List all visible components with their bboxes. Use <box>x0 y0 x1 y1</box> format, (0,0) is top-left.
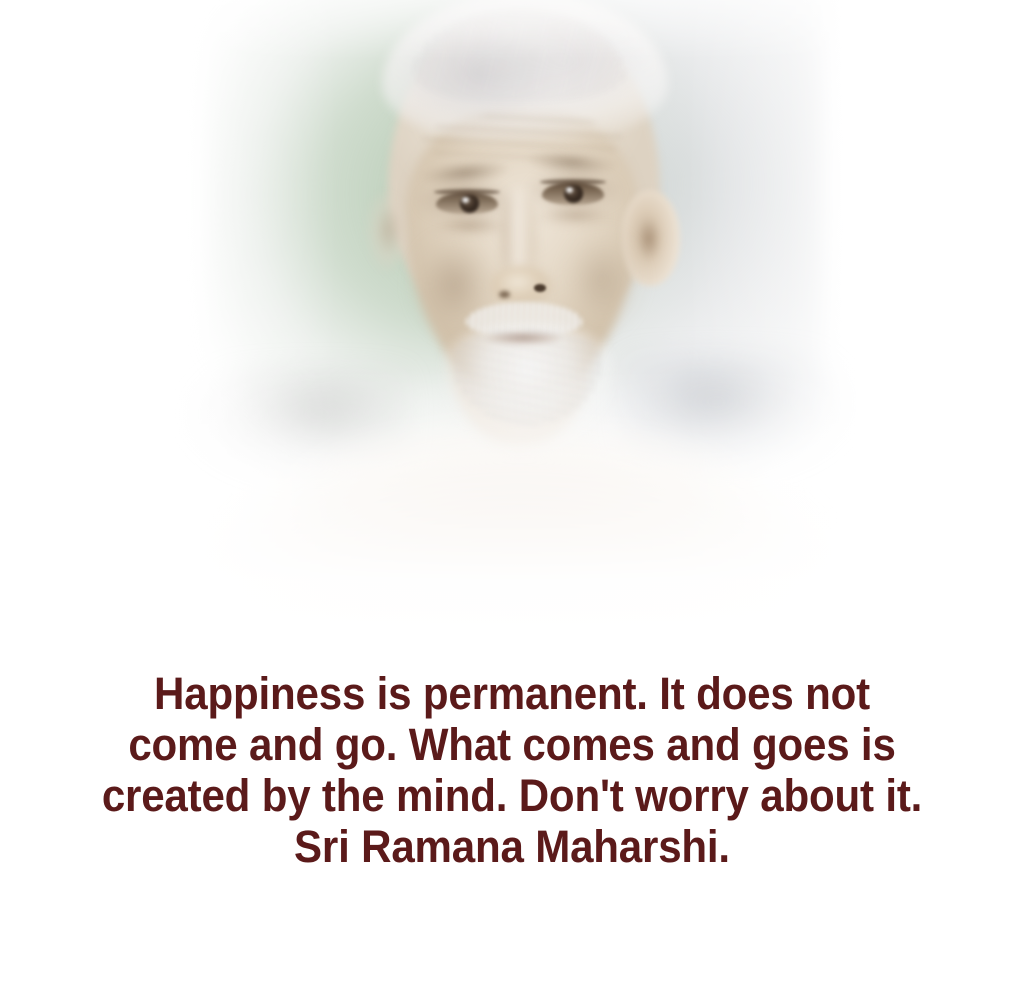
quote-image-canvas: Happiness is permanent. It does not come… <box>0 0 1024 989</box>
quote-attribution: Sri Ramana Maharshi. <box>33 821 990 872</box>
quote-line-3: created by the mind. Don't worry about i… <box>33 770 990 821</box>
eye-highlight-right <box>566 187 573 193</box>
quote-line-1: Happiness is permanent. It does not <box>33 668 990 719</box>
quote-text-block: Happiness is permanent. It does not come… <box>0 668 1024 872</box>
ear-left <box>362 192 406 272</box>
nostril-left <box>499 291 510 298</box>
eyelid-right <box>540 179 606 185</box>
under-eye-right <box>536 206 616 230</box>
portrait-photo <box>0 0 1024 660</box>
eye-highlight-left <box>462 197 469 203</box>
eyelid-left <box>434 189 500 195</box>
quote-line-2: come and go. What comes and goes is <box>33 719 990 770</box>
eye-left <box>436 192 498 214</box>
eye-right <box>542 182 604 205</box>
nostril-right <box>534 284 546 292</box>
head-and-shoulders <box>330 0 710 494</box>
